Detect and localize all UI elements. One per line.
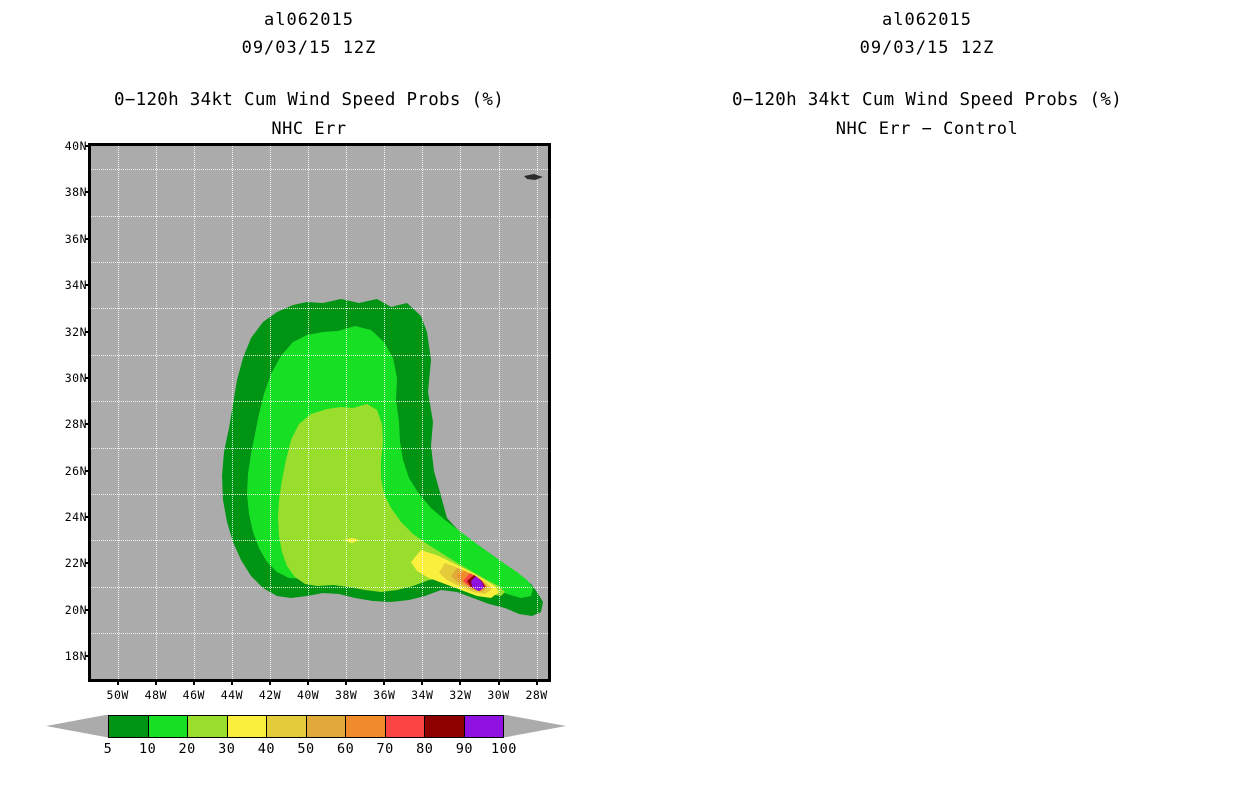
colorbar-tick: 20 <box>179 741 196 757</box>
colorbar-tick-labels: 5 10 20 30 40 50 60 70 80 90 100 <box>108 741 504 763</box>
colorbar-swatch <box>307 716 347 737</box>
chart-title-left: 0−120h 34kt Cum Wind Speed Probs (%) <box>0 90 618 110</box>
colorbar-swatch <box>109 716 149 737</box>
colorbar-tick: 10 <box>139 741 156 757</box>
storm-id-left: al062015 <box>0 10 618 30</box>
colorbar-high-cap-icon <box>504 715 566 738</box>
ytick-label: 18N <box>65 649 87 663</box>
plot-area-left <box>91 146 548 679</box>
colorbar-tick: 70 <box>377 741 394 757</box>
xtick-label: 42W <box>259 688 281 702</box>
colorbar-tick: 60 <box>337 741 354 757</box>
xtick-label: 46W <box>183 688 205 702</box>
ytick-label: 24N <box>65 510 87 524</box>
xtick-label: 38W <box>335 688 357 702</box>
colorbar-low-cap-icon <box>46 715 108 738</box>
valid-time-right: 09/03/15 12Z <box>618 38 1236 58</box>
ytick-label: 32N <box>65 325 87 339</box>
chart-subtitle-right: NHC Err − Control <box>618 119 1236 139</box>
xtick-label: 30W <box>487 688 509 702</box>
xtick-label: 50W <box>107 688 129 702</box>
ytick-label: 40N <box>65 139 87 153</box>
ytick-label: 30N <box>65 371 87 385</box>
ytick-label: 28N <box>65 417 87 431</box>
colorbar-swatch <box>346 716 386 737</box>
ytick-label: 34N <box>65 278 87 292</box>
colorbar-tick: 100 <box>491 741 517 757</box>
colorbar-swatch <box>228 716 268 737</box>
colorbar-swatch <box>188 716 228 737</box>
colorbar-tick: 80 <box>416 741 433 757</box>
ytick-label: 22N <box>65 556 87 570</box>
colorbar-swatch <box>465 716 504 737</box>
colorbar-tick: 30 <box>218 741 235 757</box>
xtick-label: 32W <box>449 688 471 702</box>
ytick-label: 20N <box>65 603 87 617</box>
colorbar-tick: 40 <box>258 741 275 757</box>
xtick-label: 44W <box>221 688 243 702</box>
map-plot-nhc-err[interactable]: 40N 38N 36N 34N 32N 30N 28N 26N 24N 22N … <box>88 143 551 682</box>
colorbar-tick: 50 <box>297 741 314 757</box>
colorbar-probability[interactable]: 5 10 20 30 40 50 60 70 80 90 100 <box>46 713 566 773</box>
ytick-label: 36N <box>65 232 87 246</box>
colorbar-swatch <box>149 716 189 737</box>
xtick-label: 28W <box>525 688 547 702</box>
ytick-label: 38N <box>65 185 87 199</box>
colorbar-swatch <box>267 716 307 737</box>
valid-time-left: 09/03/15 12Z <box>0 38 618 58</box>
xtick-label: 48W <box>145 688 167 702</box>
colorbar-tick: 90 <box>456 741 473 757</box>
xtick-label: 36W <box>373 688 395 702</box>
storm-id-right: al062015 <box>618 10 1236 30</box>
chart-title-right: 0−120h 34kt Cum Wind Speed Probs (%) <box>618 90 1236 110</box>
xtick-label: 40W <box>297 688 319 702</box>
coastline-marker-icon <box>91 146 548 679</box>
panel-nhc-err: al062015 09/03/15 12Z 0−120h 34kt Cum Wi… <box>0 0 618 800</box>
colorbar-swatch <box>386 716 426 737</box>
panel-nhc-err-minus-control: al062015 09/03/15 12Z 0−120h 34kt Cum Wi… <box>618 0 1236 800</box>
xtick-label: 34W <box>411 688 433 702</box>
chart-subtitle-left: NHC Err <box>0 119 618 139</box>
colorbar-swatches <box>108 715 504 738</box>
colorbar-swatch <box>425 716 465 737</box>
ytick-label: 26N <box>65 464 87 478</box>
colorbar-tick: 5 <box>104 741 113 757</box>
